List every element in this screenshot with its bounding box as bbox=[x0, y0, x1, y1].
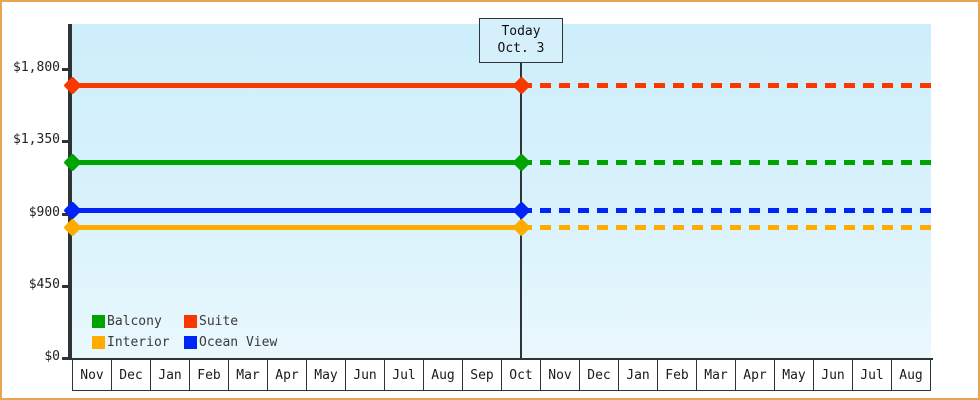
y-axis-tick-label: $450 bbox=[0, 277, 60, 292]
x-axis-label-sep-10[interactable]: Sep bbox=[462, 360, 501, 391]
legend-item-ocean-view[interactable]: Ocean View bbox=[184, 335, 277, 350]
legend-swatch-interior bbox=[92, 336, 105, 349]
today-vertical-line bbox=[520, 24, 522, 358]
x-axis-label-jun-7[interactable]: Jun bbox=[345, 360, 384, 391]
plot-area bbox=[72, 24, 931, 358]
x-axis-label-mar-4[interactable]: Mar bbox=[228, 360, 267, 391]
x-axis-label-may-18[interactable]: May bbox=[774, 360, 813, 391]
legend-row: Balcony Suite bbox=[92, 311, 277, 332]
legend-swatch-balcony bbox=[92, 315, 105, 328]
legend-label-ocean-view: Ocean View bbox=[199, 335, 277, 350]
x-axis: NovDecJanFebMarAprMayJunJulAugSepOctNovD… bbox=[72, 360, 931, 391]
today-label-line1: Today bbox=[490, 23, 552, 40]
y-axis-tick-label: $0 bbox=[0, 349, 60, 364]
legend-item-interior[interactable]: Interior bbox=[92, 335, 184, 350]
legend-row: Interior Ocean View bbox=[92, 332, 277, 353]
legend-label-interior: Interior bbox=[107, 335, 170, 350]
x-axis-label-jun-19[interactable]: Jun bbox=[813, 360, 852, 391]
x-axis-label-dec-1[interactable]: Dec bbox=[111, 360, 150, 391]
today-label-line2: Oct. 3 bbox=[490, 40, 552, 57]
series-line-solid-ocean-view bbox=[72, 208, 521, 213]
legend-item-balcony[interactable]: Balcony bbox=[92, 314, 184, 329]
y-axis-tick-label: $1,800 bbox=[0, 60, 60, 75]
x-axis-label-apr-5[interactable]: Apr bbox=[267, 360, 306, 391]
x-axis-label-jul-8[interactable]: Jul bbox=[384, 360, 423, 391]
legend-label-balcony: Balcony bbox=[107, 314, 162, 329]
series-line-solid-balcony bbox=[72, 160, 521, 165]
x-axis-label-feb-3[interactable]: Feb bbox=[189, 360, 228, 391]
series-line-dashed-interior bbox=[521, 225, 931, 230]
series-line-solid-interior bbox=[72, 225, 521, 230]
legend-item-suite[interactable]: Suite bbox=[184, 314, 238, 329]
y-axis-line bbox=[68, 24, 72, 360]
x-axis-label-jul-20[interactable]: Jul bbox=[852, 360, 891, 391]
x-axis-label-dec-13[interactable]: Dec bbox=[579, 360, 618, 391]
legend-label-suite: Suite bbox=[199, 314, 238, 329]
x-axis-label-jan-14[interactable]: Jan bbox=[618, 360, 657, 391]
series-line-dashed-ocean-view bbox=[521, 208, 931, 213]
x-axis-label-apr-17[interactable]: Apr bbox=[735, 360, 774, 391]
x-axis-label-feb-15[interactable]: Feb bbox=[657, 360, 696, 391]
x-axis-label-mar-16[interactable]: Mar bbox=[696, 360, 735, 391]
x-axis-label-nov-0[interactable]: Nov bbox=[72, 360, 111, 391]
x-axis-label-aug-9[interactable]: Aug bbox=[423, 360, 462, 391]
today-label-box: Today Oct. 3 bbox=[479, 18, 563, 63]
x-axis-label-may-6[interactable]: May bbox=[306, 360, 345, 391]
y-axis-tick-label: $1,350 bbox=[0, 132, 60, 147]
x-axis-label-jan-2[interactable]: Jan bbox=[150, 360, 189, 391]
series-line-solid-suite bbox=[72, 83, 521, 88]
cruise-price-chart: $0$450$900$1,350$1,800 Today Oct. 3 Balc… bbox=[0, 0, 980, 400]
x-axis-label-oct-11[interactable]: Oct bbox=[501, 360, 540, 391]
legend-swatch-suite bbox=[184, 315, 197, 328]
x-axis-label-aug-21[interactable]: Aug bbox=[891, 360, 931, 391]
chart-legend: Balcony Suite Interior Ocean View bbox=[92, 311, 277, 353]
x-axis-label-nov-12[interactable]: Nov bbox=[540, 360, 579, 391]
legend-swatch-ocean-view bbox=[184, 336, 197, 349]
series-line-dashed-suite bbox=[521, 83, 931, 88]
y-axis-tick-label: $900 bbox=[0, 205, 60, 220]
series-line-dashed-balcony bbox=[521, 160, 931, 165]
